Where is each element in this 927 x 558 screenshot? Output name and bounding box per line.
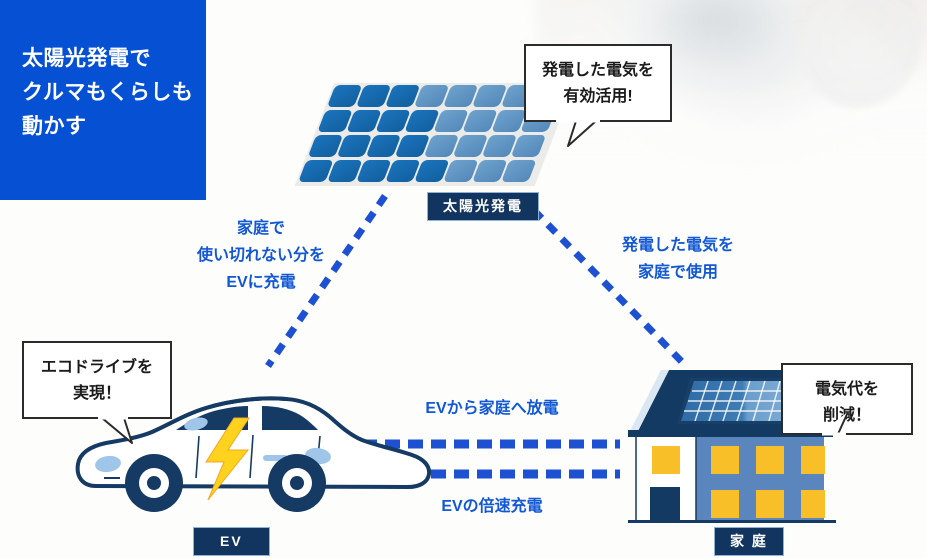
flow-label-solar-to-home: 発電した電気を 家庭で使用 (598, 232, 758, 286)
infographic-canvas: 太陽光発電で クルマもくらしも 動かす (0, 0, 927, 558)
flow-label-ev-fast-charge: EVの倍速充電 (383, 493, 601, 520)
flow-label-ev-discharge: EVから家庭へ放電 (383, 395, 601, 422)
flow-label-solar-to-ev: 家庭で 使い切れない分を EVに充電 (171, 215, 351, 296)
bubble-home-tail (0, 0, 927, 558)
